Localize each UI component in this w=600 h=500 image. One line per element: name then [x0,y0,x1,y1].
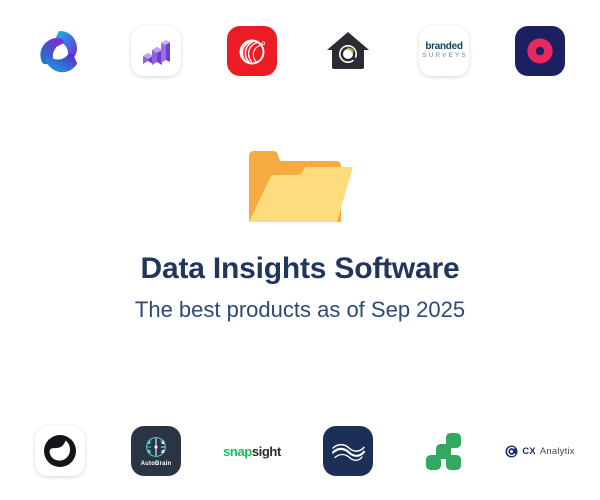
branded-surveys-subword: SURVEYS [422,53,468,60]
cx-analytix-wordmark: CX Analytix [505,445,574,458]
cx-analytix-mark [505,445,518,458]
product-category-card: branded SURVEYS Data Insights Software T… [0,0,600,500]
logo-autobrain[interactable]: AutoBrain [118,422,194,480]
logo-green-blocks[interactable] [406,422,482,480]
top-logo-row: branded SURVEYS [0,22,600,80]
open-folder-icon [241,140,359,236]
red-circle-swoosh-icon [227,26,277,76]
logo-red-circle-swoosh[interactable] [214,22,290,80]
house-magnifier-icon [323,26,373,76]
navy-pink-cp-icon [515,26,565,76]
logo-navy-waves[interactable] [310,422,386,480]
branded-surveys-word: branded [425,42,462,52]
green-blocks-icon [419,426,469,476]
logo-navy-pink-cp[interactable] [502,22,578,80]
cx-analytix-label-light: Analytix [540,446,575,457]
snapsight-wordmark: snapsight [223,444,281,459]
black-crescent-circle-icon [35,426,85,476]
bottom-logo-row: AutoBrain snapsight [0,422,600,480]
purple-bar-chart-icon [131,26,181,76]
page-subtitle: The best products as of Sep 2025 [135,297,465,322]
cx-analytix-label-bold: CX [522,446,536,457]
navy-waves-icon [323,426,373,476]
logo-black-crescent-circle[interactable] [22,422,98,480]
page-title: Data Insights Software [141,252,460,285]
autobrain-label: AutoBrain [141,461,172,467]
swirl-gradient-icon [35,26,85,76]
logo-branded-surveys[interactable]: branded SURVEYS [406,22,482,80]
logo-swirl-gradient[interactable] [22,22,98,80]
autobrain-icon: AutoBrain [131,426,181,476]
snapsight-label-green: snap [223,444,252,459]
logo-snapsight[interactable]: snapsight [214,422,290,480]
logo-purple-bar-chart[interactable] [118,22,194,80]
branded-surveys-icon: branded SURVEYS [419,26,469,76]
hero-block: Data Insights Software The best products… [0,140,600,322]
snapsight-label-dark: sight [252,444,281,459]
logo-cx-analytix[interactable]: CX Analytix [502,422,578,480]
logo-house-magnifier[interactable] [310,22,386,80]
